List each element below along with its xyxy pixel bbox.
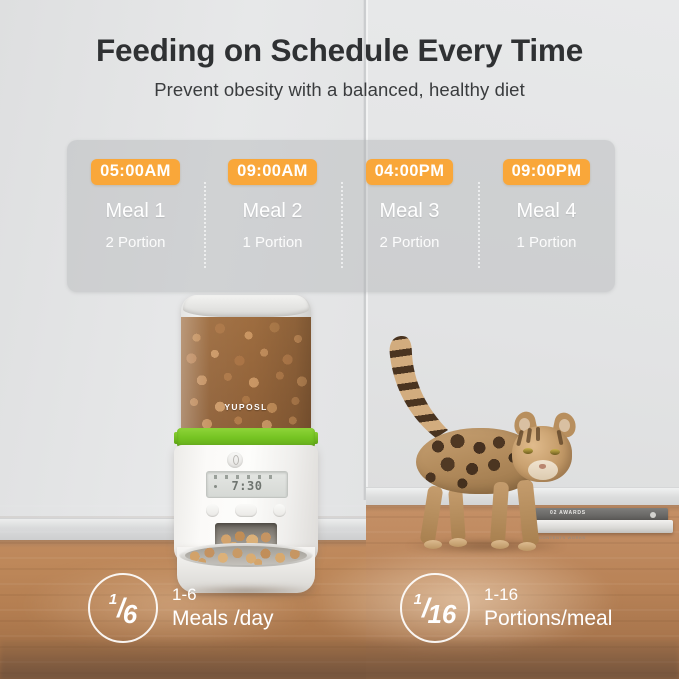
page-title: Feeding on Schedule Every Time bbox=[0, 32, 679, 69]
schedule-meal-label: Meal 1 bbox=[105, 200, 165, 223]
feeding-schedule-card: 05:00AM Meal 1 2 Portion 09:00AM Meal 2 … bbox=[67, 140, 615, 292]
schedule-meal-label: Meal 3 bbox=[379, 200, 439, 223]
floor-depth-blur bbox=[0, 640, 679, 679]
cat-inner-ear-right bbox=[559, 419, 570, 432]
feature-label: Meals /day bbox=[172, 606, 274, 632]
fraction-denominator: 16 bbox=[427, 601, 456, 627]
cat-eye-right bbox=[550, 449, 560, 455]
fraction-icon: 1 / 6 bbox=[90, 575, 156, 641]
schedule-column: 04:00PM Meal 3 2 Portion bbox=[341, 140, 478, 292]
fraction-icon: 1 / 16 bbox=[402, 575, 468, 641]
cat-leg bbox=[448, 488, 466, 543]
cat-nose bbox=[539, 464, 546, 469]
schedule-meal-label: Meal 2 bbox=[242, 200, 302, 223]
button-right-icon[interactable] bbox=[273, 504, 286, 517]
schedule-portion-label: 1 Portion bbox=[242, 234, 302, 251]
schedule-time-badge: 05:00AM bbox=[91, 159, 180, 185]
feature-callout-meals: 1 / 6 1-6 Meals /day bbox=[88, 573, 274, 643]
bowl-kibble bbox=[185, 546, 307, 565]
schedule-time-badge: 09:00PM bbox=[503, 159, 591, 185]
feature-label: Portions/meal bbox=[484, 606, 612, 632]
cat-leg bbox=[490, 482, 509, 545]
cat-paw bbox=[424, 540, 442, 549]
brand-logo-text: YUPOSL bbox=[181, 402, 311, 412]
fraction-denominator: 6 bbox=[123, 601, 137, 627]
schedule-time-badge: 04:00PM bbox=[366, 159, 454, 185]
schedule-portion-label: 2 Portion bbox=[379, 234, 439, 251]
cat-paw bbox=[518, 542, 536, 551]
schedule-column: 09:00AM Meal 2 1 Portion bbox=[204, 140, 341, 292]
cat-face-stripe bbox=[536, 427, 540, 441]
cat-leg bbox=[517, 479, 540, 546]
product-marketing-image: Feeding on Schedule Every Time Prevent o… bbox=[0, 0, 679, 679]
feature-range: 1-6 bbox=[172, 584, 274, 605]
feature-circle-badge: 1 / 16 bbox=[400, 573, 470, 643]
hopper-glass-reflection bbox=[181, 317, 311, 432]
cat-paw bbox=[491, 540, 509, 549]
bowl-interior bbox=[185, 546, 307, 565]
button-center-icon[interactable] bbox=[235, 504, 257, 517]
feeder-control-buttons bbox=[206, 503, 286, 517]
schedule-portion-label: 2 Portion bbox=[105, 234, 165, 251]
cat-muzzle bbox=[528, 460, 558, 480]
page-subtitle: Prevent obesity with a balanced, healthy… bbox=[0, 79, 679, 101]
schedule-portion-label: 1 Portion bbox=[516, 234, 576, 251]
cat-tail bbox=[378, 334, 459, 442]
feature-callout-portions: 1 / 16 1-16 Portions/meal bbox=[400, 573, 612, 643]
feature-circle-badge: 1 / 6 bbox=[88, 573, 158, 643]
book-dot-icon bbox=[650, 512, 656, 518]
feature-text: 1-6 Meals /day bbox=[172, 584, 274, 632]
cat-leg bbox=[420, 485, 444, 545]
bengal-cat bbox=[372, 330, 602, 565]
feature-range: 1-16 bbox=[484, 584, 612, 605]
feeder-lcd-display: 7:30 bbox=[206, 471, 288, 498]
fraction-numerator: 1 bbox=[109, 592, 117, 607]
feature-text: 1-16 Portions/meal bbox=[484, 584, 612, 632]
pet-feeder-device: YUPOSL 7:30 bbox=[163, 295, 329, 593]
schedule-column: 09:00PM Meal 4 1 Portion bbox=[478, 140, 615, 292]
schedule-meal-label: Meal 4 bbox=[516, 200, 576, 223]
cat-eye-left bbox=[523, 448, 533, 454]
lcd-time-value: 7:30 bbox=[207, 479, 287, 493]
button-left-icon[interactable] bbox=[206, 504, 219, 517]
schedule-time-badge: 09:00AM bbox=[228, 159, 317, 185]
feeder-lid bbox=[183, 295, 309, 317]
schedule-column: 05:00AM Meal 1 2 Portion bbox=[67, 140, 204, 292]
fraction-numerator: 1 bbox=[414, 592, 422, 607]
cat-paw bbox=[449, 538, 467, 547]
power-knob-icon bbox=[227, 452, 243, 468]
